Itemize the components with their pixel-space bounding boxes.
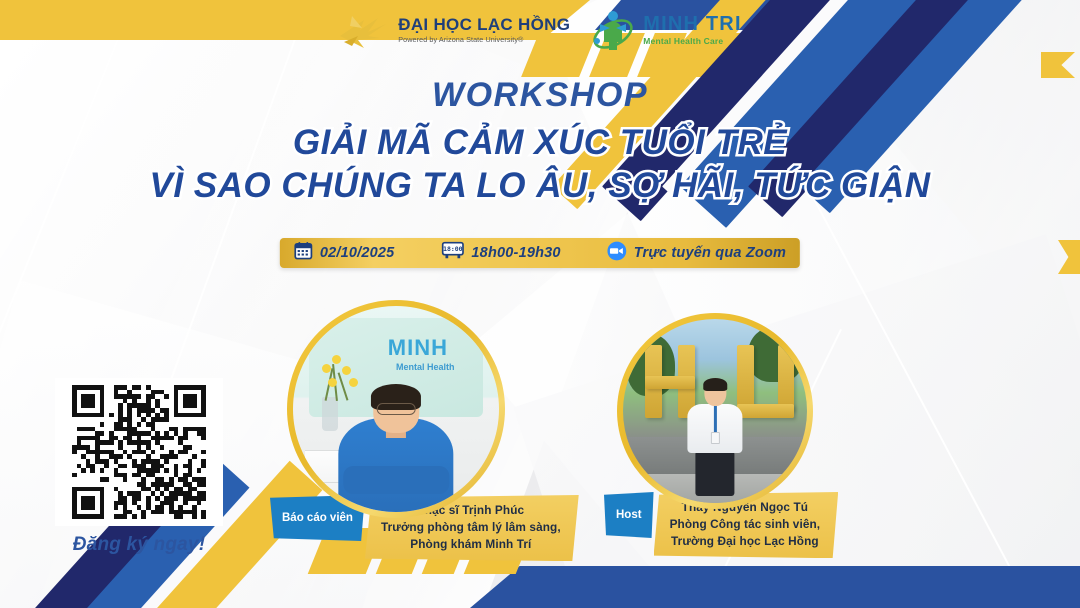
lac-hong-logo-title: ĐẠI HỌC LẠC HỒNG [398,16,570,33]
event-info-bar: 02/10/2025 18:00 18h00-19h30 [280,238,800,268]
host-photo-ring [617,313,813,509]
minh-tri-logo-text: MINH TRI Mental Health Care [643,14,741,46]
svg-text:18:00: 18:00 [443,245,463,253]
event-date-text: 02/10/2025 [320,245,395,261]
background-hairline [0,0,159,421]
event-time: 18:00 18h00-19h30 [440,241,560,265]
speaker-org-1: Trường Đại học Lạc Hồng [670,533,821,550]
arrow-star-icon [338,10,392,50]
event-platform-text: Trực tuyến qua Zoom [634,245,786,261]
minh-tri-logo-subtitle: Mental Health Care [643,37,741,46]
workshop-poster: ĐẠI HỌC LẠC HỒNG Powered by Arizona Stat… [0,0,1080,608]
lac-hong-logo-text: ĐẠI HỌC LẠC HỒNG Powered by Arizona Stat… [398,16,570,43]
top-right-chevron [1041,52,1075,78]
bottom-right-blue-bar [470,566,1080,608]
minh-tri-logo: MINH TRI Mental Health Care [590,8,741,52]
poster-title-line-2: VÌ SAO CHÚNG TA LO ÂU, SỢ HÃI, TỨC GIẬN [0,166,1080,205]
logo-row: ĐẠI HỌC LẠC HỒNG Powered by Arizona Stat… [0,8,1080,52]
lac-hong-logo-subtitle: Powered by Arizona State University® [398,36,570,43]
registration-block[interactable]: Đăng ký ngay! [55,378,223,556]
heading-block: WORKSHOP GIẢI MÃ CẢM XÚC TUỔI TRẺ VÌ SAO… [0,76,1080,205]
host-photo-nguyen-ngoc-tu [623,319,807,503]
poster-title-line-1: GIẢI MÃ CẢM XÚC TUỔI TRẺ [0,123,1080,162]
event-date: 02/10/2025 [294,241,395,265]
speaker-org-0: Phòng khám Minh Trí [381,536,561,553]
right-edge-chevron [1058,240,1080,274]
registration-qr-code[interactable] [72,385,206,519]
qr-code-card[interactable] [55,378,223,526]
workshop-kicker: WORKSHOP [0,76,1080,115]
register-now-label: Đăng ký ngay! [55,534,223,556]
speaker-photo-trinh-phuc: MINH Mental Health [293,306,499,512]
event-time-text: 18h00-19h30 [471,245,560,261]
zoom-video-icon [607,241,627,266]
speaker-role-line-0: Trưởng phòng tâm lý lâm sàng, [381,519,561,536]
calendar-icon [294,241,313,265]
speaker-card-0: MINH Mental Health [287,300,505,518]
minh-tri-logo-title: MINH TRI [643,14,741,34]
clock-icon: 18:00 [440,241,464,265]
lac-hong-university-logo: ĐẠI HỌC LẠC HỒNG Powered by Arizona Stat… [338,10,570,50]
speaker-card-1 [617,313,813,509]
event-platform: Trực tuyến qua Zoom [607,241,786,266]
person-orbit-icon [590,8,636,52]
speaker-photo-ring: MINH Mental Health [287,300,505,518]
speaker-role-line-1: Phòng Công tác sinh viên, [670,516,821,533]
